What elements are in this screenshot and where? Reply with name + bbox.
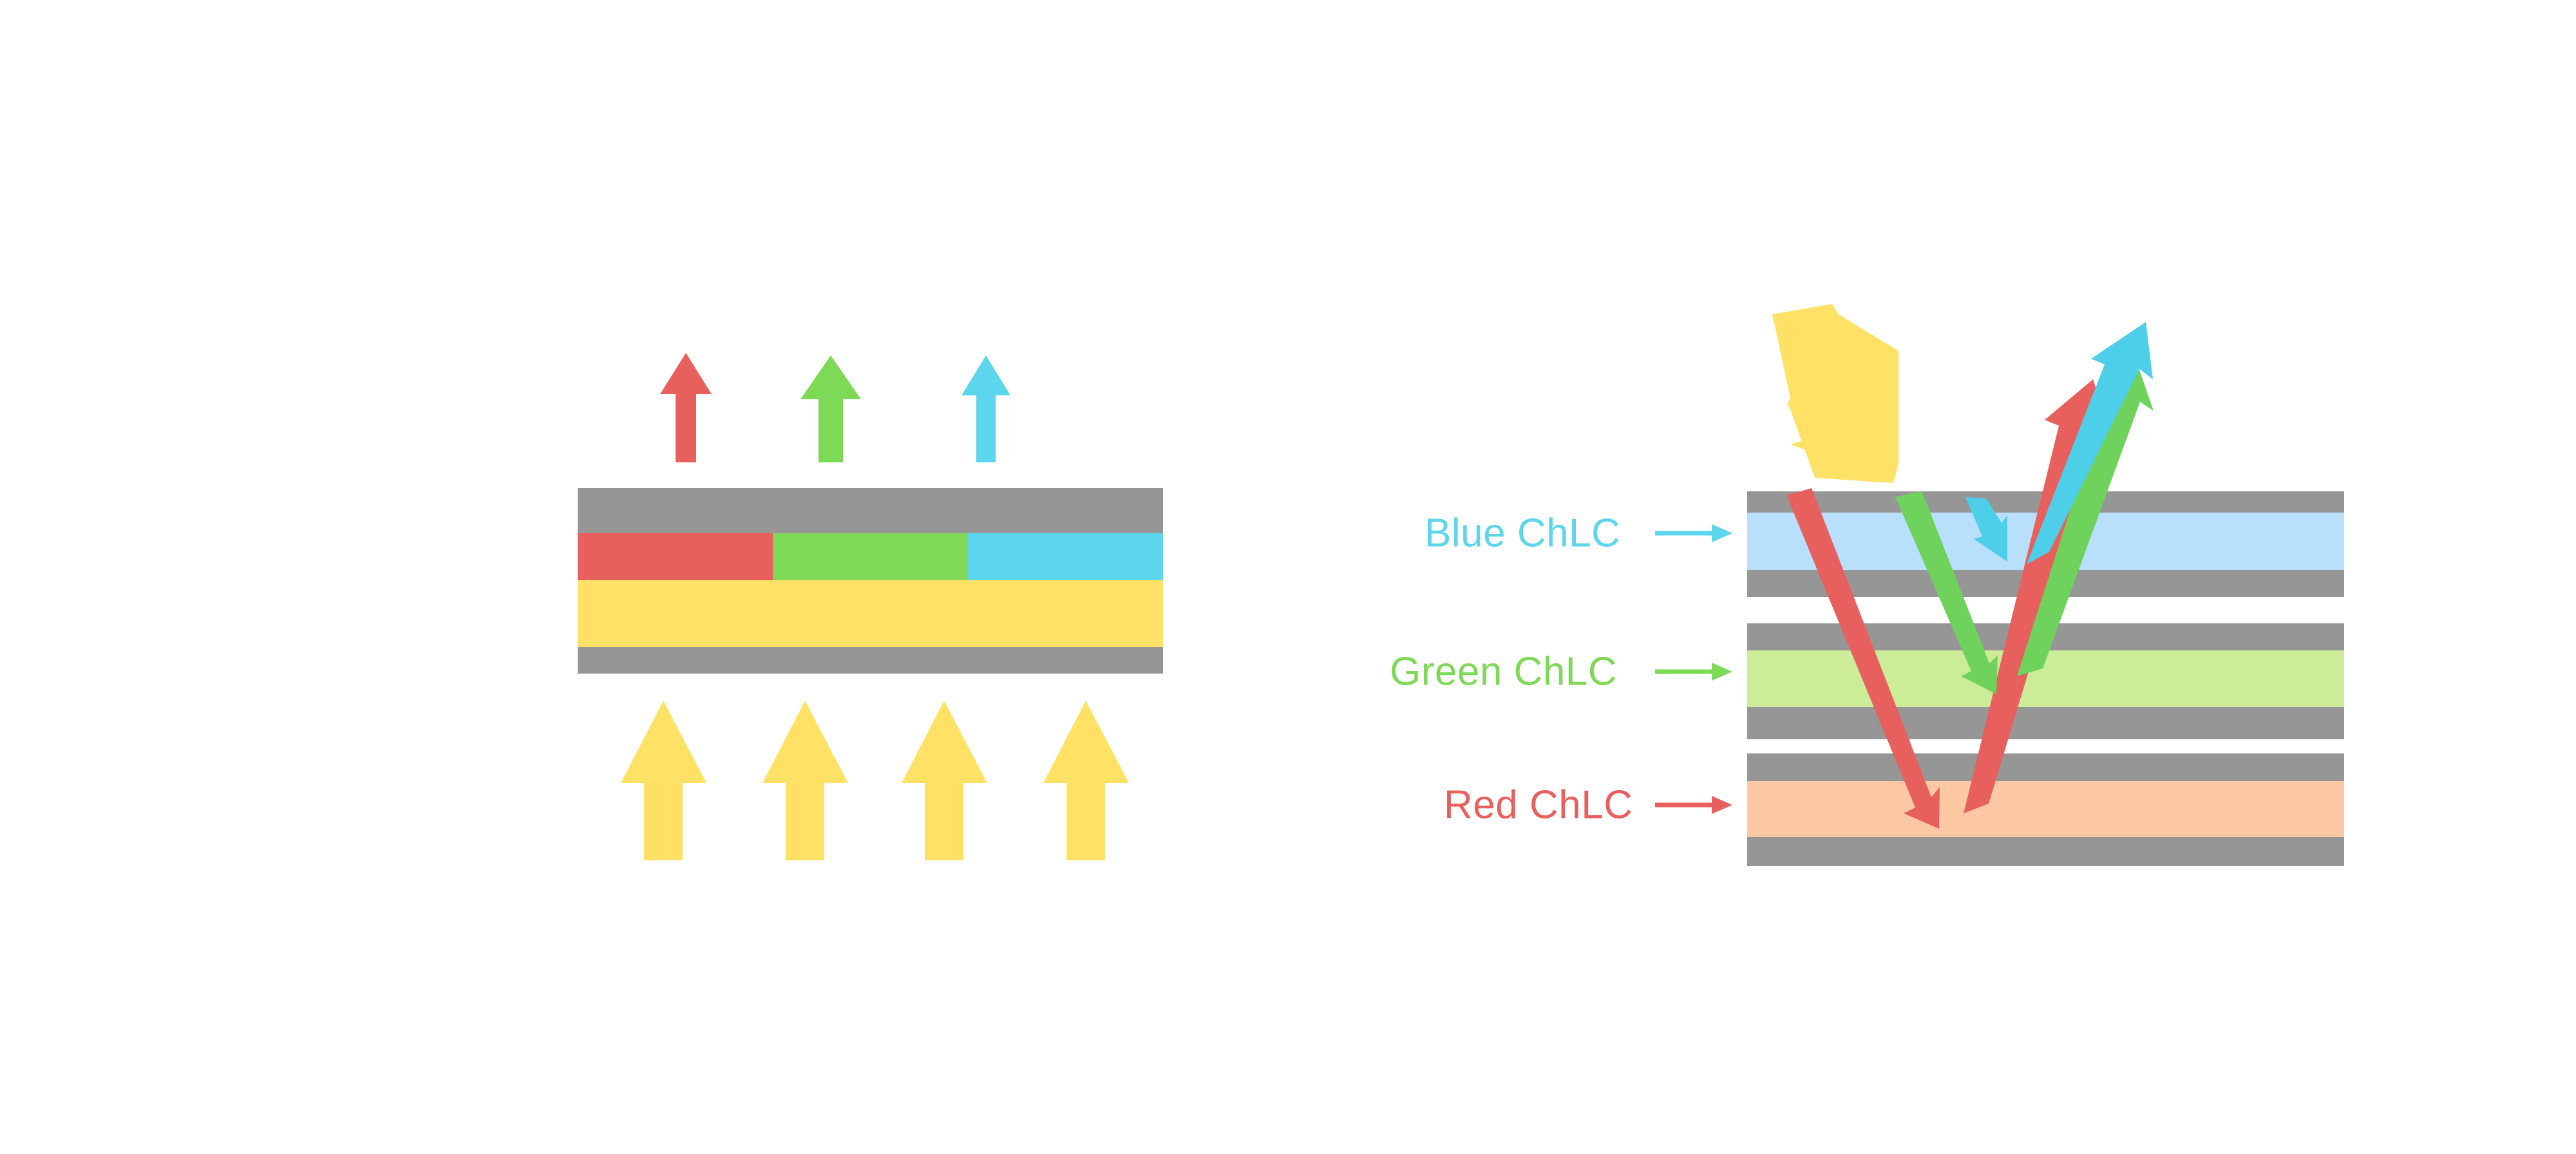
backlight-arrow-icon-2: [762, 701, 848, 860]
green-emitted-arrow-icon: [800, 355, 861, 462]
backlight-arrow-icon-3: [902, 701, 987, 860]
red-cell-top-electrode: [1747, 753, 2344, 781]
green-chlc-label-arrow-icon: [1655, 663, 1732, 681]
chlc-labels: Blue ChLC Green ChLC Red ChLC: [1390, 511, 1732, 827]
right-panel-group: Blue ChLC Green ChLC Red ChLC: [1390, 304, 2344, 866]
blue-emitted-arrow-icon: [961, 355, 1010, 462]
green-cell-bottom-electrode: [1747, 707, 2344, 739]
color-filter-red: [578, 533, 773, 580]
left-bottom-electrode: [578, 647, 1163, 674]
chlc-diagram-canvas: Blue ChLC Green ChLC Red ChLC: [0, 0, 2576, 1154]
color-filter-green: [773, 533, 967, 580]
green-chlc-label-text: Green ChLC: [1390, 649, 1617, 694]
red-cell-bottom-electrode: [1747, 837, 2344, 866]
backlight-arrows: [621, 701, 1129, 860]
emitted-light-arrows: [660, 353, 1010, 462]
red-cell-lc-layer: [1747, 781, 2344, 837]
left-panel-group: [578, 353, 1163, 860]
red-chlc-label-arrow-icon: [1655, 796, 1732, 814]
red-chlc-cell: [1747, 753, 2344, 866]
backlight-arrow-icon-1: [621, 701, 706, 860]
left-stack: [578, 488, 1163, 674]
backlight-layer: [578, 580, 1163, 647]
color-filter-blue: [967, 533, 1163, 580]
diagram-stage: Blue ChLC Green ChLC Red ChLC: [0, 0, 2576, 1154]
left-top-electrode: [578, 488, 1163, 533]
blue-chlc-label-text: Blue ChLC: [1425, 511, 1620, 555]
red-chlc-label-text: Red ChLC: [1444, 782, 1633, 827]
backlight-arrow-icon-4: [1043, 701, 1129, 860]
red-emitted-arrow-icon: [660, 353, 712, 462]
blue-chlc-label-arrow-icon: [1655, 524, 1732, 542]
